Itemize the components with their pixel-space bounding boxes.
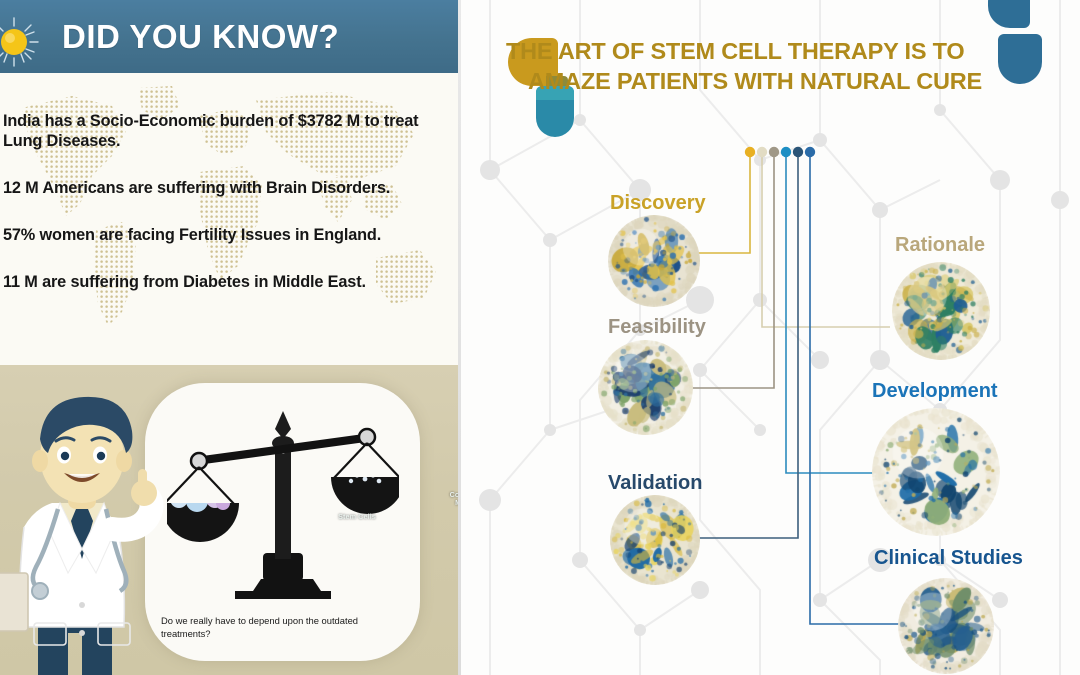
cell-image-validation [610,495,700,585]
fact-item: India has a Socio-Economic burden of $37… [3,112,458,152]
balance-card: Stem Cells Conventional Medicines Do we … [145,383,420,661]
illustration-block: Stem Cells Conventional Medicines Do we … [0,365,461,675]
right-panel: THE ART OF STEM CELL THERAPY IS TO AMAZE… [460,0,1080,675]
stage-label-clinical-studies: Clinical Studies [874,547,1023,570]
stage-label-validation: Validation [608,472,702,495]
stage-label-development: Development [872,380,998,403]
cell-image-rationale [892,262,990,360]
process-flow-connectors [460,0,1080,675]
doctor-illustration [0,377,172,675]
facts-list: India has a Socio-Economic burden of $37… [3,112,458,292]
cell-image-discovery [608,215,700,307]
sun-idea-icon [0,14,42,70]
did-you-know-title: DID YOU KNOW? [62,18,339,56]
scale-label-conventional-medicines: Conventional Medicines [433,491,461,508]
balance-scale-illustration [167,403,399,611]
panel-divider [458,0,461,675]
cell-image-development [872,408,1000,536]
connector-dots [745,147,815,157]
fact-item: 57% women are facing Fertility Issues in… [3,226,458,246]
scale-label-stem-cells: Stem Cells [317,513,397,521]
cell-image-feasibility [598,340,693,435]
cell-image-clinical-studies [898,578,994,674]
balance-card-caption: Do we really have to depend upon the out… [161,615,407,640]
stage-label-discovery: Discovery [610,192,706,215]
did-you-know-header: DID YOU KNOW? [0,0,461,73]
stage-label-feasibility: Feasibility [608,316,706,339]
stage-label-rationale: Rationale [895,234,985,257]
fact-item: 12 M Americans are suffering with Brain … [3,179,458,199]
slide-canvas: THE ART OF STEM CELL THERAPY IS TO AMAZE… [0,0,1080,675]
fact-item: 11 M are suffering from Diabetes in Midd… [3,273,458,293]
left-panel: DID YOU KNOW? India has a Socio-Economic… [0,0,461,675]
